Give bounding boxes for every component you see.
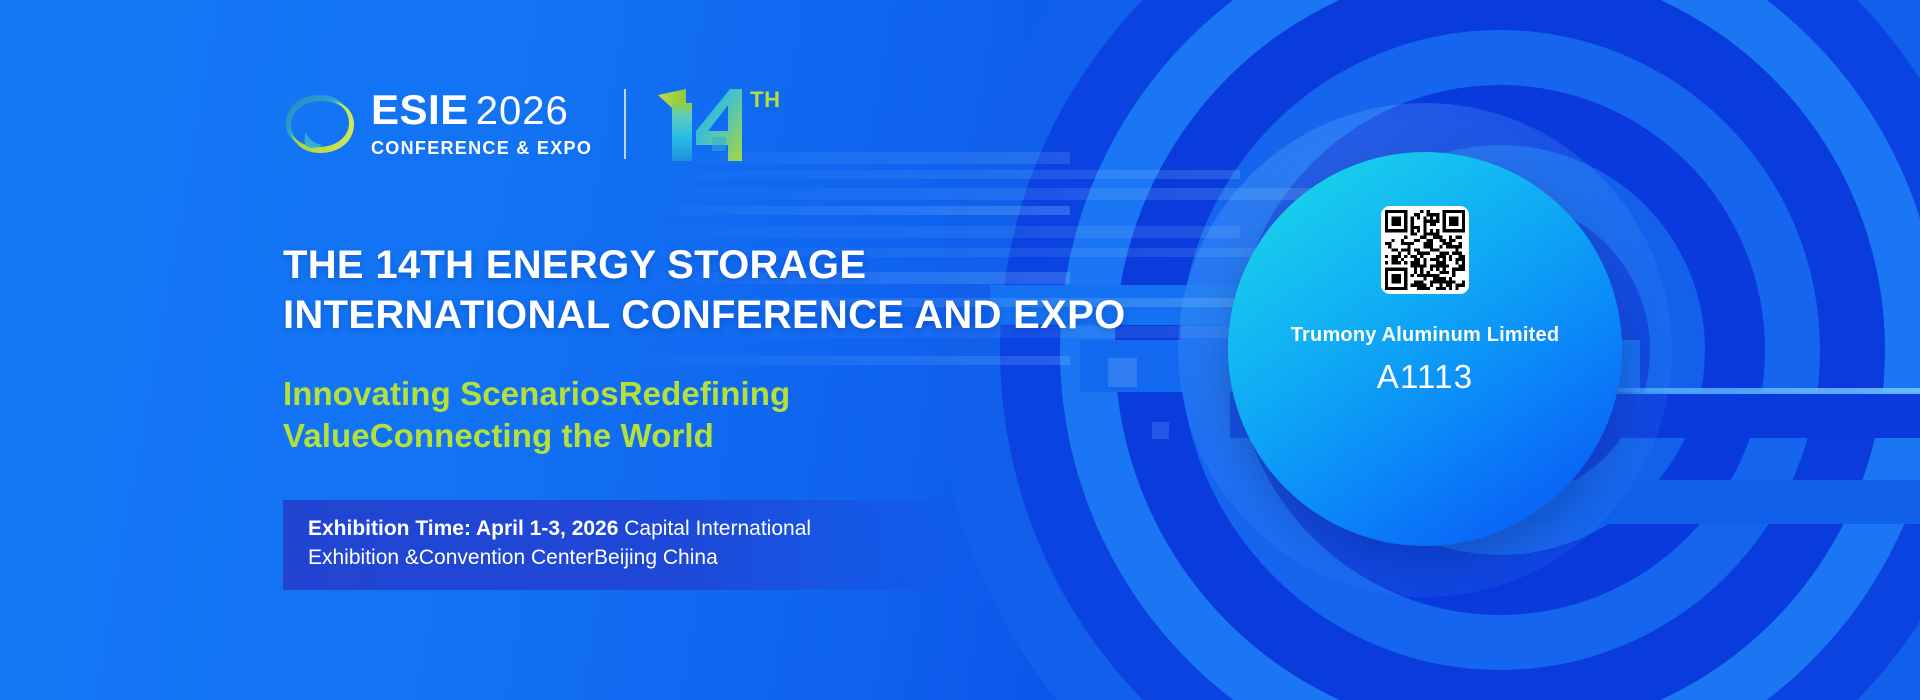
logo-lockup: ESIE 2026 CONFERENCE & EXPO — [283, 85, 780, 163]
qr-code-icon — [1385, 210, 1465, 290]
exhibition-time-label: Exhibition Time: April 1-3, 2026 — [308, 517, 618, 540]
ordinal-suffix: TH — [750, 87, 780, 113]
speed-line — [640, 170, 1240, 179]
edition-year: 2026 — [476, 91, 569, 131]
venue-line-1: Capital International — [618, 517, 811, 540]
logo-subtitle: CONFERENCE & EXPO — [371, 138, 592, 159]
esie-expo-banner: ESIE 2026 CONFERENCE & EXPO — [0, 0, 1920, 700]
logo-divider — [624, 89, 626, 159]
page-title: THE 14TH ENERGY STORAGE INTERNATIONAL CO… — [283, 240, 1126, 341]
tagline: Innovating ScenariosRedefining ValueConn… — [283, 373, 790, 457]
ordinal-badge: TH — [652, 85, 780, 163]
event-details-box: Exhibition Time: April 1-3, 2026 Capital… — [283, 500, 955, 590]
brand-name: ESIE — [371, 89, 469, 131]
tagline-line-1: Innovating ScenariosRedefining — [283, 373, 790, 415]
exhibitor-badge[interactable]: Trumony Aluminum Limited A1113 — [1228, 152, 1622, 546]
esie-swirl-logo-icon — [283, 91, 357, 157]
ordinal-number-icon — [652, 85, 748, 163]
headline-line-1: THE 14TH ENERGY STORAGE — [283, 240, 1126, 290]
decorative-square-small — [1152, 422, 1169, 439]
tagline-line-2: ValueConnecting the World — [283, 415, 790, 457]
venue-line-2: Exhibition &Convention CenterBeijing Chi… — [308, 544, 930, 573]
event-details-line-1: Exhibition Time: April 1-3, 2026 Capital… — [308, 515, 930, 544]
speed-line — [640, 206, 1070, 215]
logo-wordmark: ESIE 2026 CONFERENCE & EXPO — [371, 89, 592, 159]
booth-number: A1113 — [1377, 358, 1474, 396]
exhibitor-company-name: Trumony Aluminum Limited — [1291, 324, 1560, 347]
decorative-square-large — [1108, 358, 1137, 387]
qr-code-card[interactable] — [1381, 206, 1469, 294]
headline-line-2: INTERNATIONAL CONFERENCE AND EXPO — [283, 290, 1126, 340]
speed-line — [640, 356, 1070, 365]
speed-line — [640, 226, 1240, 238]
